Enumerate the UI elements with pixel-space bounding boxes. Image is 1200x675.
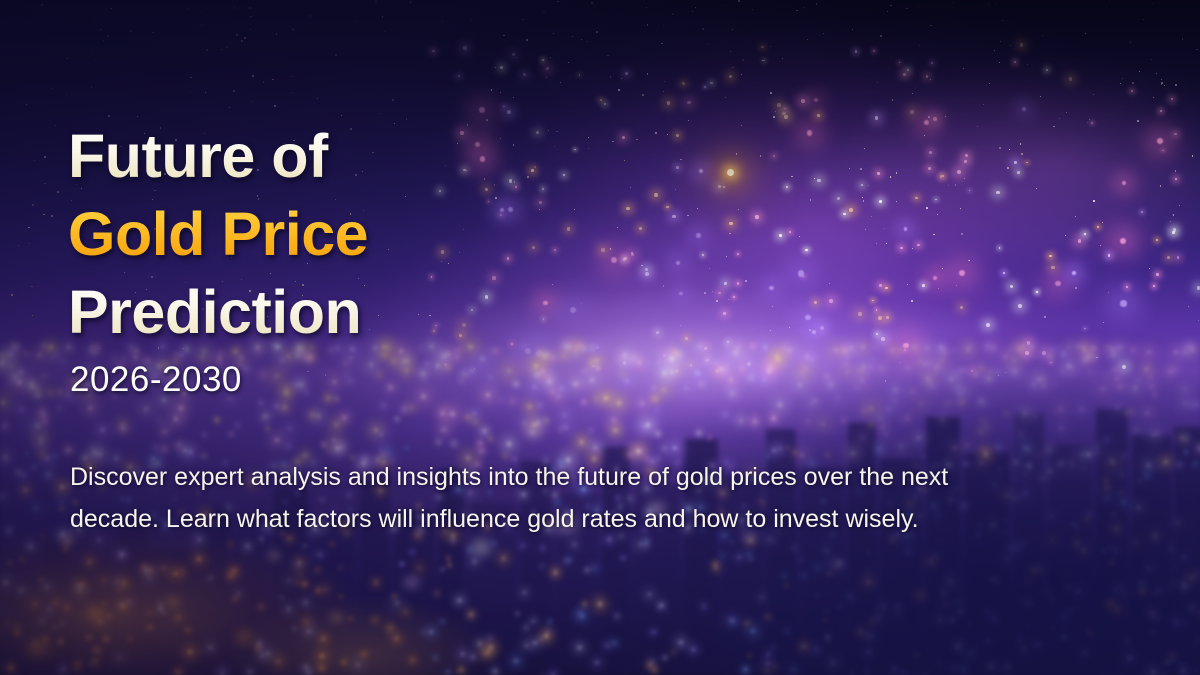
building-silhouette bbox=[1096, 409, 1128, 675]
building-silhouette bbox=[1014, 413, 1044, 675]
city-light-bloom bbox=[1006, 543, 1021, 554]
building-silhouette bbox=[1174, 427, 1200, 675]
building-silhouette bbox=[1132, 435, 1172, 675]
building-silhouette bbox=[8, 579, 42, 675]
building-silhouette bbox=[1048, 445, 1092, 675]
headline-line-3: Prediction bbox=[68, 273, 368, 351]
hero-description: Discover expert analysis and insights in… bbox=[70, 456, 960, 540]
year-range-subtitle: 2026-2030 bbox=[70, 360, 242, 400]
hero-banner: Future of Gold Price Prediction 2026-203… bbox=[0, 0, 1200, 675]
city-light-bloom bbox=[1104, 601, 1116, 609]
city-light-bloom bbox=[28, 641, 48, 655]
headline-line-1: Future of bbox=[68, 117, 368, 195]
hero-content: Future of Gold Price Prediction 2026-203… bbox=[68, 0, 1008, 675]
building-silhouette bbox=[44, 543, 70, 675]
page-title: Future of Gold Price Prediction bbox=[68, 117, 368, 351]
headline-line-2: Gold Price bbox=[68, 195, 368, 273]
